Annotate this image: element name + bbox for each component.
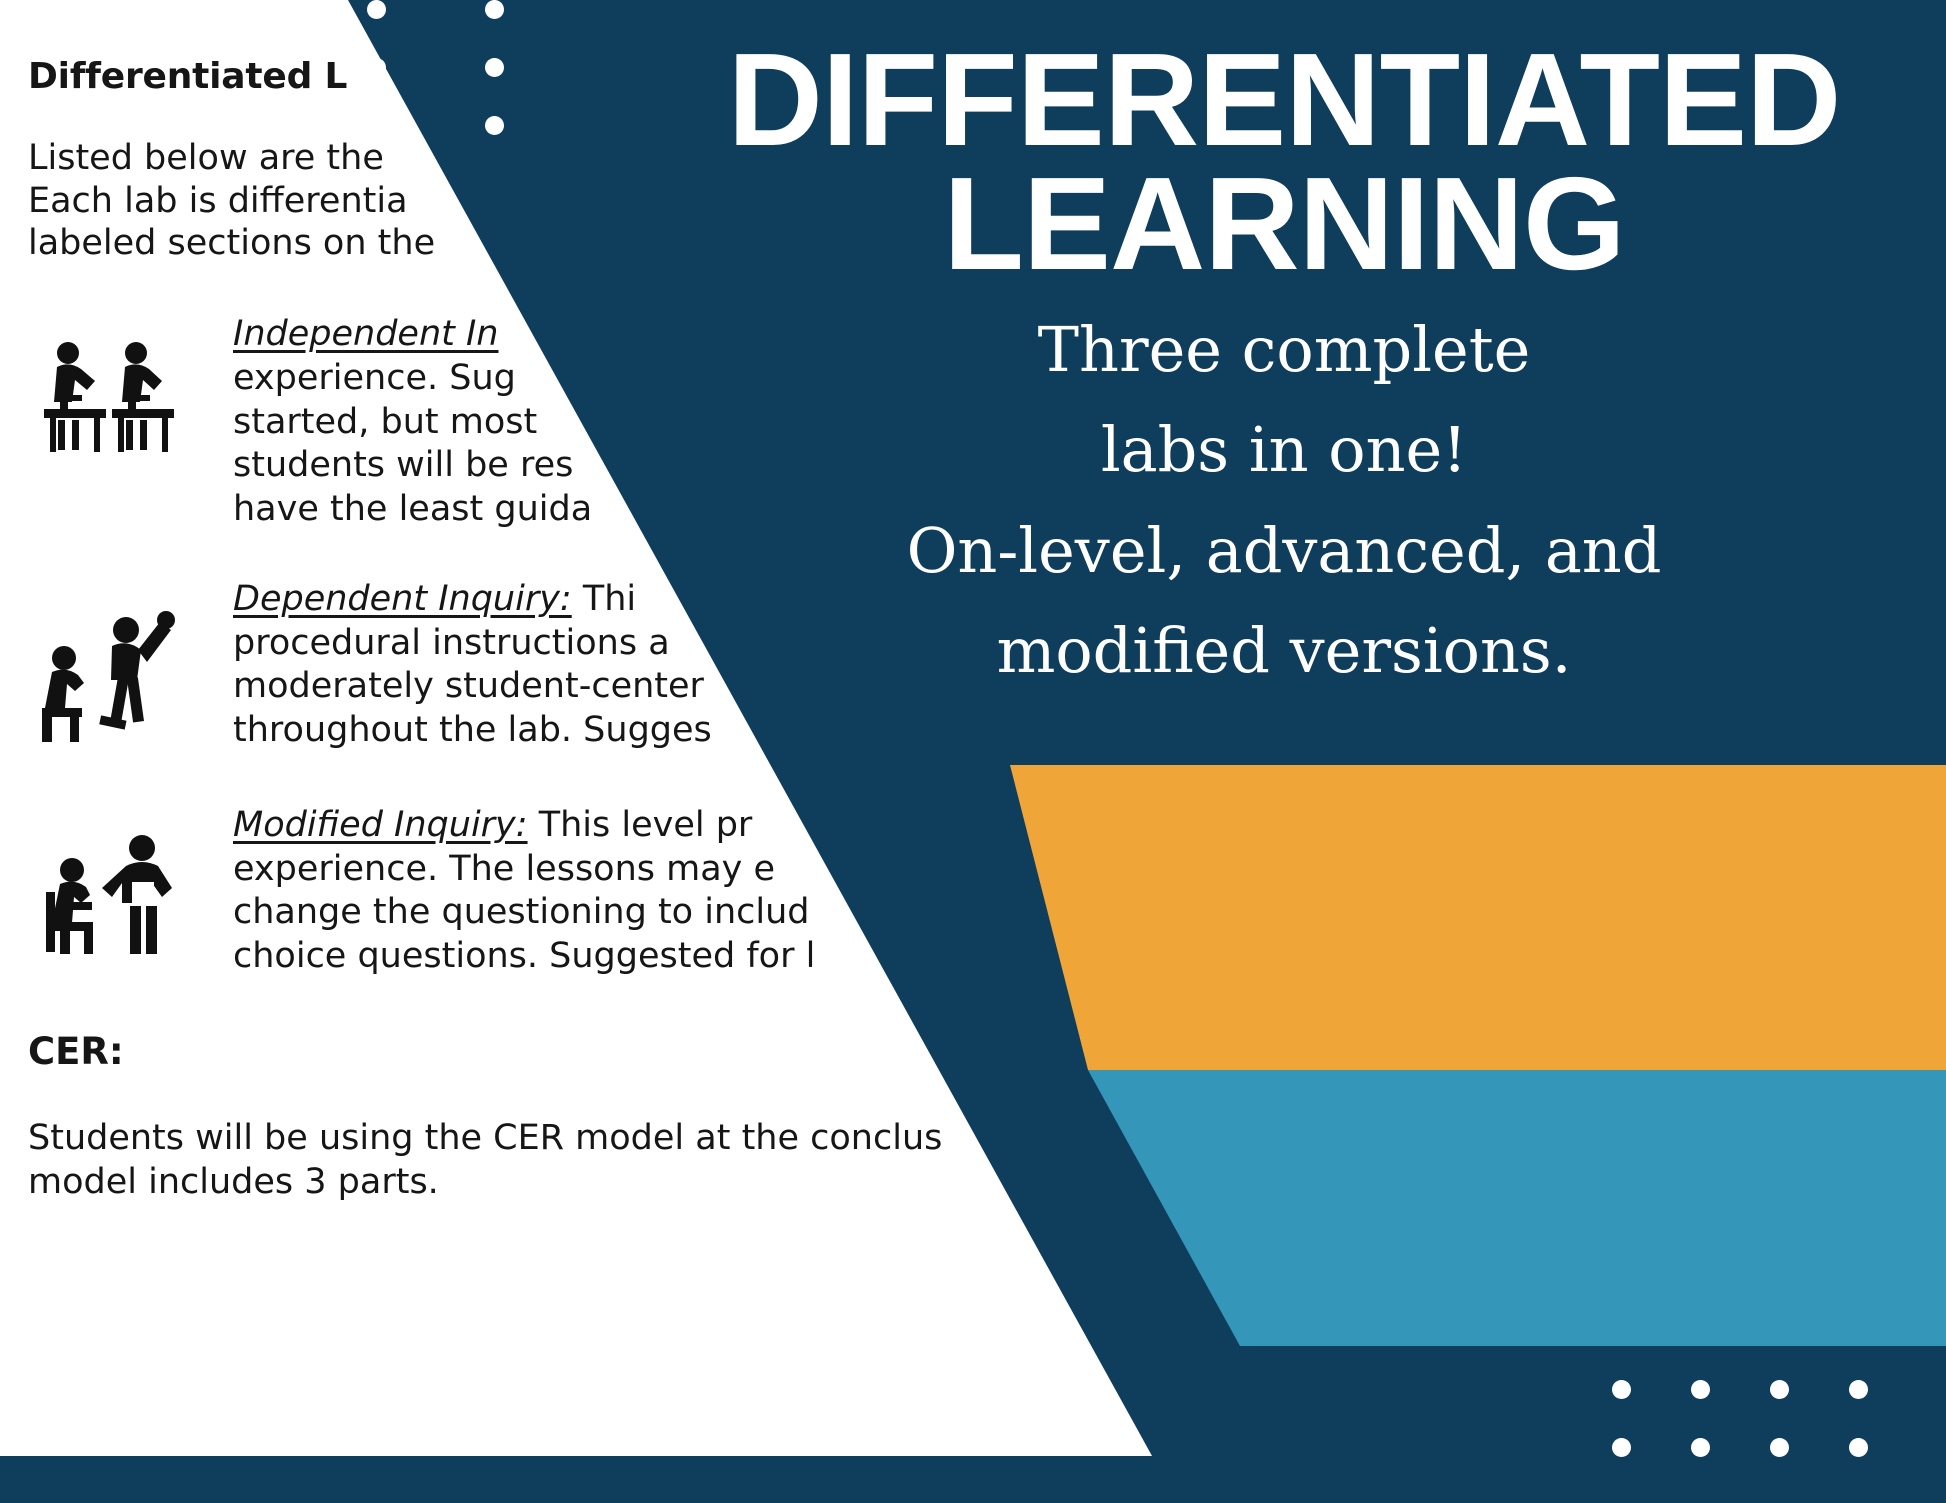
teacher-helping-seated-student-icon xyxy=(38,826,198,976)
page-subtitle-line-1: Three complete xyxy=(636,300,1932,400)
dot xyxy=(485,58,504,77)
page-subtitle-line-4: modified versions. xyxy=(636,601,1932,701)
inquiry-term-tail: Thi xyxy=(583,579,636,619)
dot xyxy=(1612,1438,1631,1457)
dot-grid-top-left xyxy=(367,0,567,140)
inquiry-term: Dependent Inquiry: xyxy=(233,579,572,619)
dot xyxy=(485,0,504,19)
cer-line: model includes 3 parts. xyxy=(28,1161,1028,1205)
dot xyxy=(1691,1380,1710,1399)
two-students-at-desks-icon xyxy=(38,335,198,485)
poster-canvas: Differentiated L Listed below are the Ea… xyxy=(0,0,1946,1503)
cer-body: Students will be using the CER model at … xyxy=(28,1117,1028,1205)
dot xyxy=(1691,1438,1710,1457)
dot xyxy=(1849,1380,1868,1399)
inquiry-term-tail: This level pr xyxy=(539,805,753,845)
dot xyxy=(1849,1438,1868,1457)
dot-grid-bottom-right xyxy=(1612,1380,1922,1500)
dot xyxy=(485,116,504,135)
page-subtitle-line-3: On-level, advanced, and xyxy=(636,501,1932,601)
dot xyxy=(1770,1380,1789,1399)
page-subtitle-line-2: labs in one! xyxy=(636,400,1932,500)
inquiry-term: Modified Inquiry: xyxy=(233,805,528,845)
dot xyxy=(367,0,386,19)
page-subtitle: Three complete labs in one! On-level, ad… xyxy=(636,300,1932,702)
dot xyxy=(1612,1380,1631,1399)
page-title-line-1: DIFFERENTIATED xyxy=(648,38,1920,162)
cer-heading: CER: xyxy=(28,1030,1028,1073)
student-raising-hand-icon xyxy=(38,600,198,750)
page-title-line-2: LEARNING xyxy=(648,162,1920,286)
dot xyxy=(367,58,386,77)
cer-line: Students will be using the CER model at … xyxy=(28,1117,1028,1161)
inquiry-term: Independent In xyxy=(233,314,498,354)
dot xyxy=(1770,1438,1789,1457)
page-title: DIFFERENTIATED LEARNING xyxy=(648,38,1920,286)
dot xyxy=(367,116,386,135)
